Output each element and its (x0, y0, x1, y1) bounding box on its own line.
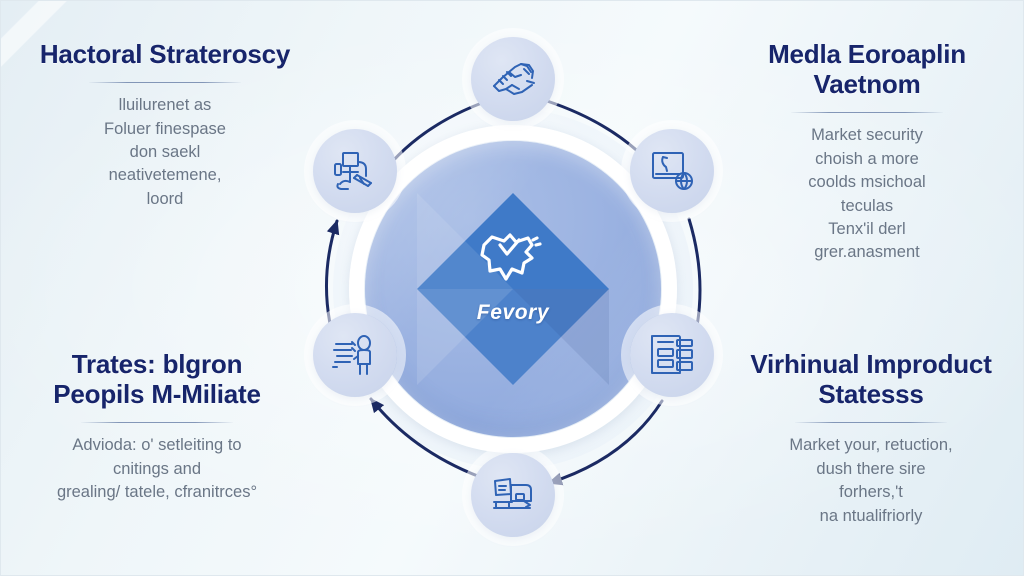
heading-line: Trates: blgron (72, 349, 243, 379)
body-line: Market security (741, 124, 993, 147)
quadrant-top-left-heading: Hactoral Strateroscy (39, 39, 291, 69)
quadrant-bottom-right-heading: Virhinual Improduct Statesss (745, 349, 997, 409)
heading-divider (89, 82, 241, 83)
center-diamond: Fevory (417, 193, 609, 385)
center-label: Fevory (417, 301, 609, 325)
node-top-left[interactable] (313, 129, 397, 213)
heading-line: Virhinual (750, 349, 859, 379)
body-line: coolds msichoal (741, 171, 993, 194)
body-line: teculas (741, 195, 993, 218)
workstation-icon (330, 148, 380, 194)
heading-divider (81, 422, 233, 423)
node-top-right[interactable] (630, 129, 714, 213)
heading-line: Vaetnom (814, 69, 921, 99)
printer-device-icon (488, 472, 538, 518)
quadrant-bottom-right: Virhinual Improduct Statesss Market your… (745, 349, 997, 528)
quadrant-top-left: Hactoral Strateroscy lluilurenet as Folu… (39, 39, 291, 211)
node-bottom-right[interactable] (630, 313, 714, 397)
document-layout-icon (647, 332, 697, 378)
body-line: na ntualifriorly (745, 505, 997, 528)
body-line: Foluer finespase (39, 118, 291, 141)
node-bottom-left[interactable] (313, 313, 397, 397)
heading-line: Peopils M-Miliate (53, 379, 261, 409)
body-line: Market your, retuction, (745, 434, 997, 457)
diamond-shape (417, 193, 609, 385)
heading-line: Improduct (866, 349, 991, 379)
quadrant-top-right: Medla Eoroaplin Vaetnom Market security … (741, 39, 993, 265)
body-line: Advioda: o' setleiting to (31, 434, 283, 457)
quadrant-bottom-left-heading: Trates: blgron Peopils M-Miliate (31, 349, 283, 409)
body-line: cnitings and (31, 458, 283, 481)
body-line: choish a more (741, 148, 993, 171)
node-top[interactable] (471, 37, 555, 121)
cycle-diagram: Fevory (277, 35, 749, 543)
quadrant-bottom-right-body: Market your, retuction, dush there sire … (745, 434, 997, 528)
badge-shield-icon (476, 229, 550, 287)
handshake-icon (488, 56, 538, 102)
body-line: lluilurenet as (39, 94, 291, 117)
body-line: Tenx'il derl (741, 218, 993, 241)
heading-divider (795, 422, 947, 423)
node-bottom[interactable] (471, 453, 555, 537)
quadrant-bottom-left: Trates: blgron Peopils M-Miliate Advioda… (31, 349, 283, 505)
body-line: forhers,'t (745, 481, 997, 504)
heading-divider (791, 112, 943, 113)
quadrant-top-right-body: Market security choish a more coolds msi… (741, 124, 993, 265)
heading-line: Statesss (818, 379, 923, 409)
body-line: dush there sire (745, 458, 997, 481)
quadrant-bottom-left-body: Advioda: o' setleiting to cnitings and g… (31, 434, 283, 504)
heading-line: Hactoral (40, 39, 142, 69)
body-line: grealing/ tatele, cfranitrces° (31, 481, 283, 504)
body-line: neativetemene, (39, 164, 291, 187)
heading-line: Medla Eoroaplin (768, 39, 966, 69)
body-line: don saekl (39, 141, 291, 164)
infographic-canvas: Hactoral Strateroscy lluilurenet as Folu… (0, 0, 1024, 576)
body-line: grer.anasment (741, 241, 993, 264)
presenter-person-icon (330, 332, 380, 378)
monitor-globe-icon (647, 148, 697, 194)
heading-line: Strateroscy (149, 39, 290, 69)
quadrant-top-left-body: lluilurenet as Foluer finespase don saek… (39, 94, 291, 211)
body-line: loord (39, 188, 291, 211)
quadrant-top-right-heading: Medla Eoroaplin Vaetnom (741, 39, 993, 99)
